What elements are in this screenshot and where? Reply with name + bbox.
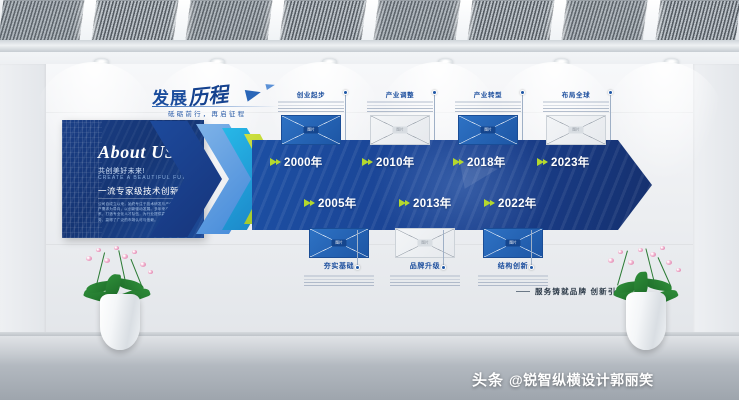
card-connector-dot — [432, 90, 437, 95]
watermark-handle: @锐智纵横设计郭丽笑 — [509, 370, 654, 390]
card-connector-stem — [610, 93, 611, 140]
ceiling-grille — [368, 0, 463, 40]
chevron-right-icon-small — [490, 200, 495, 206]
card-connector-dot — [441, 265, 446, 270]
orchid-plant-right — [596, 240, 696, 350]
paper-plane-icon — [245, 86, 262, 101]
orchid-bloom — [96, 248, 101, 252]
card-title: 布局全球 — [543, 89, 609, 99]
orchid-bloom — [104, 258, 110, 263]
year-marker-top-2: 2018年 — [453, 154, 506, 170]
card-connector-dot — [529, 265, 534, 270]
ceiling-grille — [460, 0, 555, 40]
placeholder-badge: 图片 — [304, 127, 319, 134]
card-title: 产业调整 — [367, 89, 433, 99]
card-body-lines — [478, 273, 548, 286]
image-placeholder: 图片 — [309, 228, 369, 258]
year-marker-bottom-1: 2013年 — [399, 195, 452, 211]
card-title: 创业起步 — [278, 89, 344, 99]
placeholder-badge: 图片 — [393, 127, 408, 134]
chevron-right-icon-small — [310, 200, 315, 206]
orchid-bloom — [132, 250, 137, 254]
card-connector-stem — [357, 230, 358, 268]
card-body-lines — [543, 101, 609, 112]
placeholder-badge: 图片 — [332, 240, 347, 247]
placeholder-badge: 图片 — [506, 240, 521, 247]
ceiling-edge-trim — [0, 40, 739, 52]
year-marker-top-3: 2023年 — [537, 154, 590, 170]
orchid-bloom — [650, 252, 656, 257]
orchid-bloom — [148, 270, 153, 274]
image-placeholder: 图片 — [370, 115, 430, 145]
year-marker-bottom-2: 2022年 — [484, 195, 537, 211]
ceiling-grille — [276, 0, 371, 40]
image-placeholder: 图片 — [483, 228, 543, 258]
tagline-rule — [516, 291, 530, 292]
card-connector-stem — [434, 93, 435, 140]
card-body-lines — [455, 101, 521, 112]
chevron-right-icon-small — [405, 200, 410, 206]
card-title: 夯实基础 — [304, 261, 374, 271]
milestone-card-bottom-0: 图片 夯实基础 — [304, 228, 374, 286]
ceiling-grille — [553, 0, 648, 40]
year-label: 2000年 — [284, 154, 323, 170]
placeholder-badge: 图片 — [569, 127, 584, 134]
card-title: 结构创新 — [478, 261, 548, 271]
card-title: 产业转型 — [455, 89, 521, 99]
heading-subtitle: 砥砺前行，再启征程 — [168, 108, 246, 118]
orchid-bloom — [628, 260, 634, 265]
placeholder-badge: 图片 — [418, 240, 433, 247]
wall-panel-right — [693, 64, 739, 336]
chevron-right-icon-small — [276, 159, 281, 165]
image-placeholder: 图片 — [395, 228, 455, 258]
chevron-right-icon-small — [543, 159, 548, 165]
card-body-lines — [367, 101, 433, 112]
chevron-right-icon-small — [368, 159, 373, 165]
card-connector-dot — [520, 90, 525, 95]
orchid-plant-left — [70, 240, 170, 350]
card-body-lines — [390, 273, 460, 286]
ceiling-grille — [91, 0, 186, 40]
card-connector-stem — [443, 230, 444, 268]
panel-grid-pattern — [62, 120, 102, 238]
ceiling-grille — [183, 0, 278, 40]
vase — [626, 292, 666, 350]
year-label: 2013年 — [413, 195, 452, 211]
orchid-bloom — [660, 246, 665, 250]
heading-rule — [152, 106, 278, 107]
orchid-bloom — [140, 262, 146, 267]
chevron-right-icon-small — [459, 159, 464, 165]
image-placeholder: 图片 — [281, 115, 341, 145]
year-label: 2005年 — [318, 195, 357, 211]
image-placeholder: 图片 — [458, 115, 518, 145]
year-label: 2023年 — [551, 154, 590, 170]
watermark: 头条 @锐智纵横设计郭丽笑 — [472, 369, 654, 390]
milestone-card-top-1: 产业调整 图片 — [367, 89, 433, 145]
card-body-lines — [278, 101, 344, 112]
card-connector-stem — [522, 93, 523, 140]
wall-heading: 发展 历程 砥砺前行，再启征程 — [150, 80, 280, 120]
orchid-bloom — [666, 260, 672, 265]
milestone-card-bottom-1: 图片 品牌升级 — [390, 228, 460, 286]
card-connector-stem — [531, 230, 532, 268]
milestone-card-top-0: 创业起步 图片 — [278, 89, 344, 145]
milestone-card-top-3: 布局全球 图片 — [543, 89, 609, 145]
about-title: About US — [98, 142, 175, 163]
card-connector-dot — [608, 90, 613, 95]
paper-plane-icon-small — [265, 82, 275, 90]
orchid-bloom — [618, 250, 623, 254]
year-label: 2010年 — [376, 154, 415, 170]
card-connector-dot — [355, 265, 360, 270]
year-label: 2022年 — [498, 195, 537, 211]
placeholder-badge: 图片 — [481, 127, 496, 134]
orchid-bloom — [638, 248, 643, 252]
year-marker-top-0: 2000年 — [270, 154, 323, 170]
timeline-arrow-banner: 2000年 2010年 2018年 2023年 2005年 2013年 — [252, 140, 652, 230]
milestone-card-bottom-2: 图片 结构创新 — [478, 228, 548, 286]
vase — [100, 294, 140, 350]
orchid-bloom — [676, 268, 681, 272]
card-connector-stem — [345, 93, 346, 140]
orchid-bloom — [86, 256, 92, 261]
card-body-lines — [304, 273, 374, 286]
wall-panel-left — [0, 64, 46, 336]
image-placeholder: 图片 — [546, 115, 606, 145]
card-title: 品牌升级 — [390, 261, 460, 271]
watermark-logo: 头条 — [472, 369, 504, 390]
orchid-bloom — [114, 246, 119, 250]
year-marker-top-1: 2010年 — [362, 154, 415, 170]
year-label: 2018年 — [467, 154, 506, 170]
stem — [617, 251, 628, 286]
milestone-card-top-2: 产业转型 图片 — [455, 89, 521, 145]
year-marker-bottom-0: 2005年 — [304, 195, 357, 211]
showroom-scene: 发展 历程 砥砺前行，再启征程 About US 共创美好未来! CREATE … — [0, 0, 739, 400]
orchid-bloom — [122, 254, 128, 259]
orchid-bloom — [608, 258, 614, 263]
card-connector-dot — [343, 90, 348, 95]
